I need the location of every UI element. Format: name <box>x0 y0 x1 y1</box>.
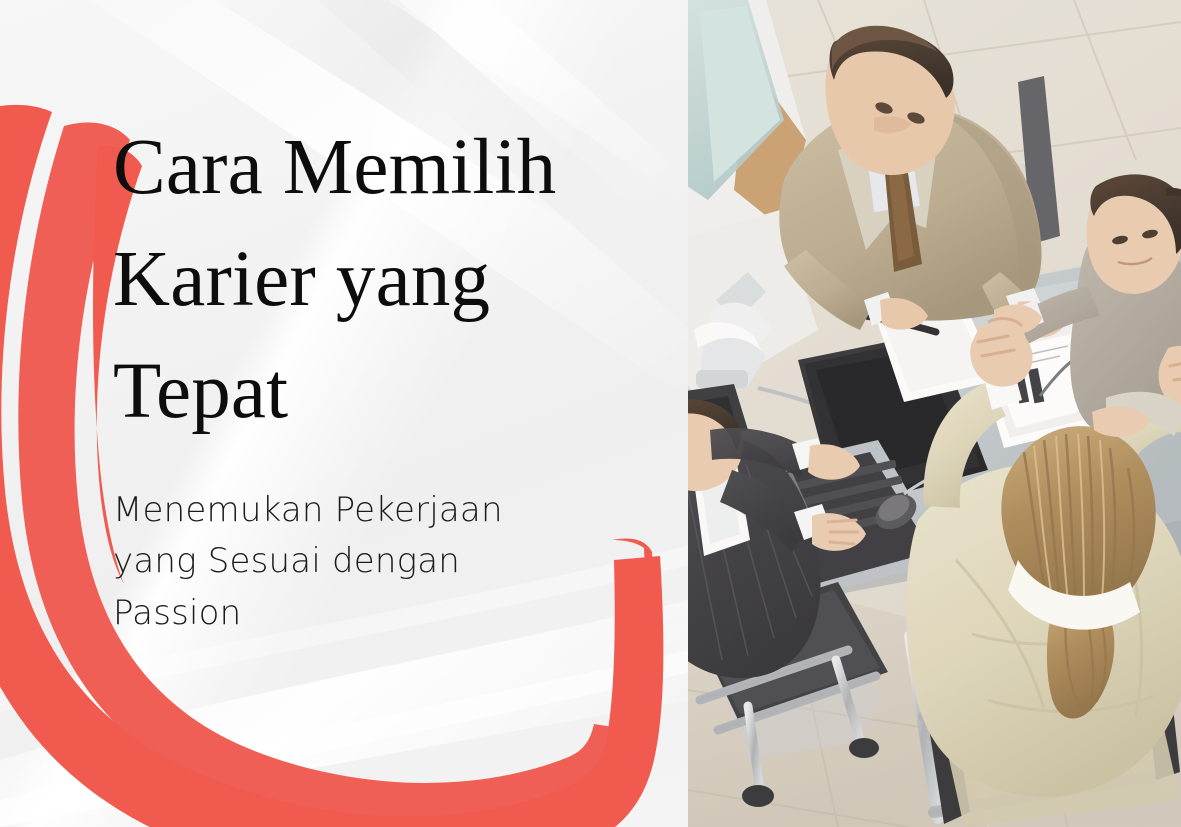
slide-canvas: Cara Memilih Karier yang Tepat Menemukan… <box>0 0 1181 827</box>
text-block: Cara Memilih Karier yang Tepat Menemukan… <box>113 112 643 640</box>
office-meeting-illustration <box>688 0 1181 827</box>
meeting-photo <box>688 0 1181 827</box>
page-title: Cara Memilih Karier yang Tepat <box>113 112 643 449</box>
page-subtitle: Menemukan Pekerjaan yang Sesuai dengan P… <box>113 485 643 640</box>
left-content-panel: Cara Memilih Karier yang Tepat Menemukan… <box>0 0 690 827</box>
